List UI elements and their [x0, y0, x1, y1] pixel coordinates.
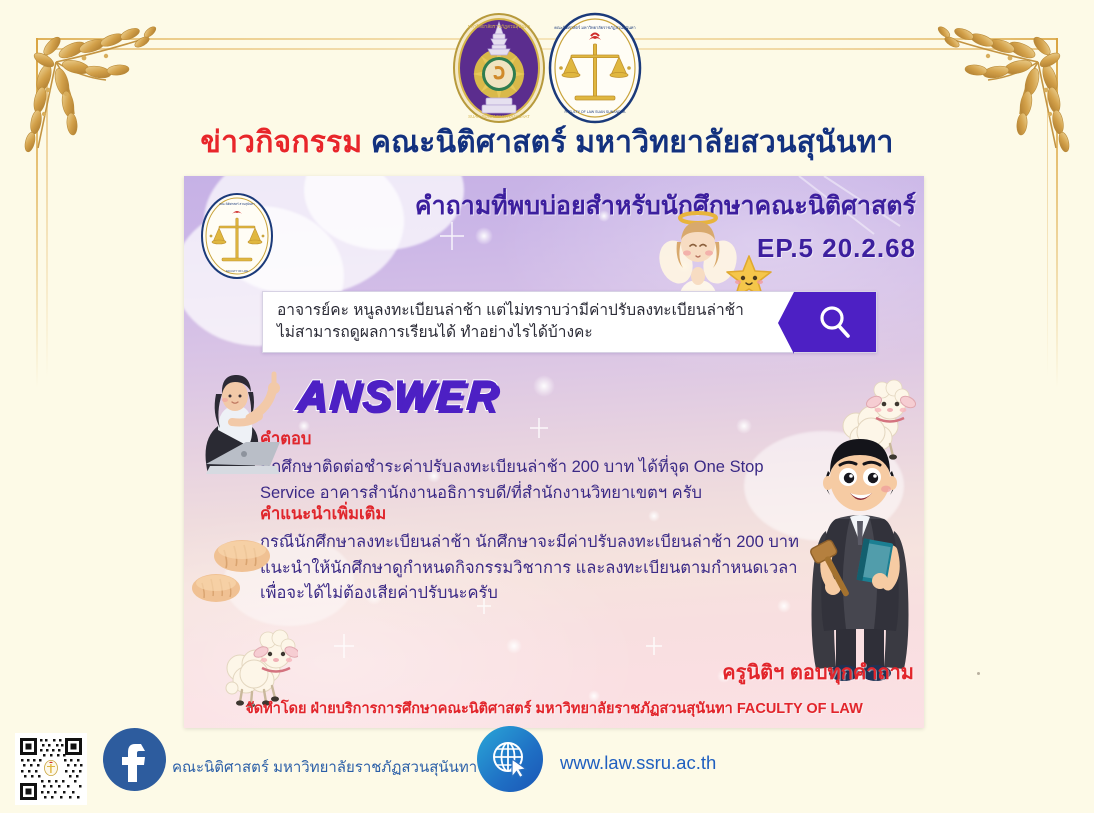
poster-faculty-seal: คณะนิติศาสตร์ สวนสุนันทา FACULTY OF LAW	[200, 192, 274, 280]
answer-block: คำตอบ นักศึกษาติดต่อชำระค่าปรับลงทะเบียน…	[260, 426, 820, 506]
advice-body-line3: เพื่อจะได้ไม่ต้องเสียค่าปรับนะครับ	[260, 581, 820, 607]
page-title-red: ข่าวกิจกรรม	[200, 126, 362, 159]
svg-text:FACULTY OF LAW: FACULTY OF LAW	[226, 269, 249, 273]
facebook-icon	[115, 738, 155, 782]
advice-heading: คำแนะนำเพิ่มเติม	[260, 501, 820, 527]
cartoon-lawyer-with-gavel-illustration	[800, 421, 920, 686]
question-search-bar[interactable]: อาจารย์คะ หนูลงทะเบียนล่าช้า แต่ไม่ทราบว…	[262, 291, 877, 353]
svg-text:มหาวิทยาลัยราชภัฏสวนสุนันทา: มหาวิทยาลัยราชภัฏสวนสุนันทา	[468, 23, 531, 30]
poster-credit: จัดทำโดย ฝ่ายบริการการศึกษาคณะนิติศาสตร์…	[184, 697, 924, 720]
footer-bar: คณะนิติศาสตร์ มหาวิทยาลัยราชภัฏสวนสุนันท…	[0, 728, 1094, 813]
bread-cloud-illustration	[190, 528, 276, 614]
question-line1: อาจารย์คะ หนูลงทะเบียนล่าช้า แต่ไม่ทราบว…	[277, 300, 782, 322]
faculty-of-law-seal: คณะนิติศาสตร์ มหาวิทยาลัยราชภัฏสวนสุนันท…	[547, 12, 643, 124]
poster-heading-line1: คำถามที่พบบ่อยสำหรับนักศึกษาคณะนิติศาสตร…	[288, 192, 916, 222]
poster-tagline: ครูนิติฯ ตอบทุกคำถาม	[722, 656, 914, 688]
header-logos: มหาวิทยาลัยราชภัฏสวนสุนันทา SUAN SUNANDH…	[0, 12, 1094, 124]
page-title: ข่าวกิจกรรม คณะนิติศาสตร์ มหาวิทยาลัยสวน…	[0, 124, 1094, 162]
svg-text:SUAN SUNANDHA RAJABHAT: SUAN SUNANDHA RAJABHAT	[468, 114, 530, 119]
question-line2: ไม่สามารถดูผลการเรียนได้ ทำอย่างไรได้บ้า…	[277, 322, 782, 344]
answer-wordmark: ANSWER	[294, 372, 501, 421]
poster-image: คณะนิติศาสตร์ สวนสุนันทา FACULTY OF LAW …	[184, 176, 924, 728]
advice-block: คำแนะนำเพิ่มเติม กรณีนักศึกษาลงทะเบียนล่…	[260, 501, 820, 607]
svg-text:FACULTY OF LAW SUAN SUNANDHA: FACULTY OF LAW SUAN SUNANDHA	[564, 110, 626, 114]
advice-body-line2: แนะนำให้นักศึกษาดูกำหนดกิจกรรมวิชาการ แล…	[260, 556, 820, 582]
website-url[interactable]: www.law.ssru.ac.th	[560, 752, 716, 774]
stray-dot	[977, 672, 980, 675]
student-with-laptop-illustration	[188, 356, 296, 486]
poster-heading: คำถามที่พบบ่อยสำหรับนักศึกษาคณะนิติศาสตร…	[288, 192, 916, 264]
answer-heading: คำตอบ	[260, 426, 820, 452]
ssru-university-seal: มหาวิทยาลัยราชภัฏสวนสุนันทา SUAN SUNANDH…	[451, 12, 547, 124]
facebook-link[interactable]	[103, 728, 166, 791]
question-text: อาจารย์คะ หนูลงทะเบียนล่าช้า แต่ไม่ทราบว…	[263, 292, 794, 352]
website-link[interactable]	[477, 726, 543, 792]
search-button[interactable]	[794, 292, 876, 352]
globe-icon	[488, 737, 532, 781]
search-icon	[816, 303, 854, 341]
qr-code[interactable]	[15, 733, 87, 805]
advice-body-line1: กรณีนักศึกษาลงทะเบียนล่าช้า นักศึกษาจะมี…	[260, 530, 820, 556]
page-title-blue: คณะนิติศาสตร์ มหาวิทยาลัยสวนสุนันทา	[371, 126, 894, 159]
answer-body-line1: นักศึกษาติดต่อชำระค่าปรับลงทะเบียนล่าช้า…	[260, 455, 820, 481]
facebook-page-name[interactable]: คณะนิติศาสตร์ มหาวิทยาลัยราชภัฏสวนสุนันท…	[172, 755, 477, 779]
poster-heading-episode: EP.5 20.2.68	[288, 232, 916, 265]
